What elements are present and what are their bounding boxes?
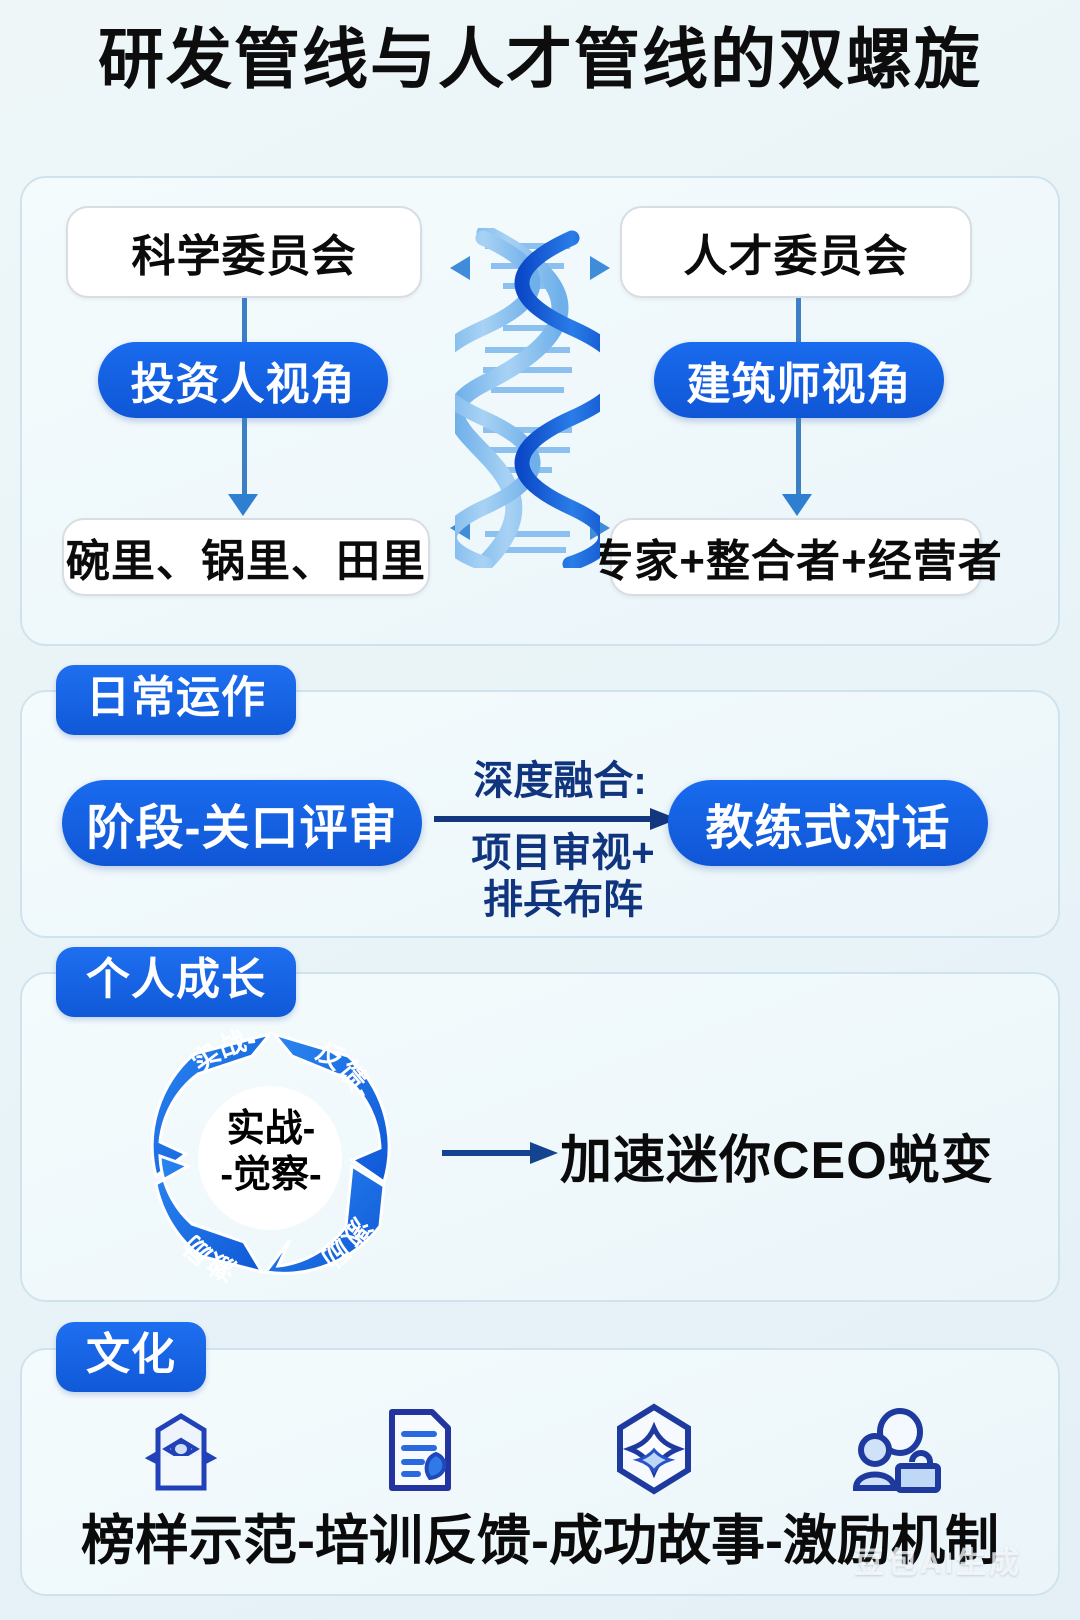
success-badge-hexagon-icon [614, 1402, 694, 1496]
culture-badge: 文化 [56, 1322, 206, 1392]
stage-gate-review-pill: 阶段-关口评审 [62, 780, 422, 866]
investor-perspective-pill: 投资人视角 [98, 342, 388, 418]
cycle-center-line-1: 实战- [196, 1106, 346, 1152]
growth-cycle-center-label: 实战- -觉察- [196, 1106, 346, 1199]
watermark: 豆包AI生成 [854, 1538, 1022, 1582]
growth-result-arrow [440, 1140, 560, 1166]
fusion-label: 深度融合: [440, 748, 680, 806]
role-model-box-icon [138, 1406, 224, 1496]
arrowhead-down-left [228, 494, 258, 516]
training-document-icon [380, 1404, 458, 1496]
left-outcome-box: 碗里、锅里、田里 [62, 518, 430, 596]
connector-line-invest-to-outcome [242, 418, 247, 496]
architect-perspective-pill: 建筑师视角 [654, 342, 944, 418]
cycle-label-2: 反馈- [311, 1036, 379, 1103]
culture-icon-row [60, 1398, 1020, 1496]
growth-result-text: 加速迷你CEO蜕变 [560, 1118, 994, 1193]
talent-committee-box: 人才委员会 [620, 206, 972, 298]
fusion-detail: 项目审视+ 排兵布阵 [418, 830, 708, 924]
connector-line-arch-to-outcome [796, 418, 801, 496]
incentive-team-icon [850, 1406, 942, 1496]
svg-text:反馈-: 反馈- [311, 1036, 379, 1103]
cycle-center-line-2: -觉察- [196, 1152, 346, 1198]
arrowhead-down-right [782, 494, 812, 516]
coaching-dialogue-pill: 教练式对话 [668, 780, 988, 866]
fusion-detail-line-2: 排兵布阵 [418, 877, 708, 924]
connector-line-talent-to-arch [796, 298, 801, 344]
fusion-detail-line-1: 项目审视+ [418, 830, 708, 877]
personal-growth-badge: 个人成长 [56, 947, 296, 1017]
daily-operation-badge: 日常运作 [56, 665, 296, 735]
right-outcome-box: 专家+整合者+经营者 [610, 518, 982, 596]
connector-line-sci-to-invest [242, 298, 247, 344]
science-committee-box: 科学委员会 [66, 206, 422, 298]
fusion-arrow [432, 806, 682, 832]
dna-double-helix-icon [455, 228, 600, 568]
page-title: 研发管线与人才管线的双螺旋 [0, 0, 1080, 92]
